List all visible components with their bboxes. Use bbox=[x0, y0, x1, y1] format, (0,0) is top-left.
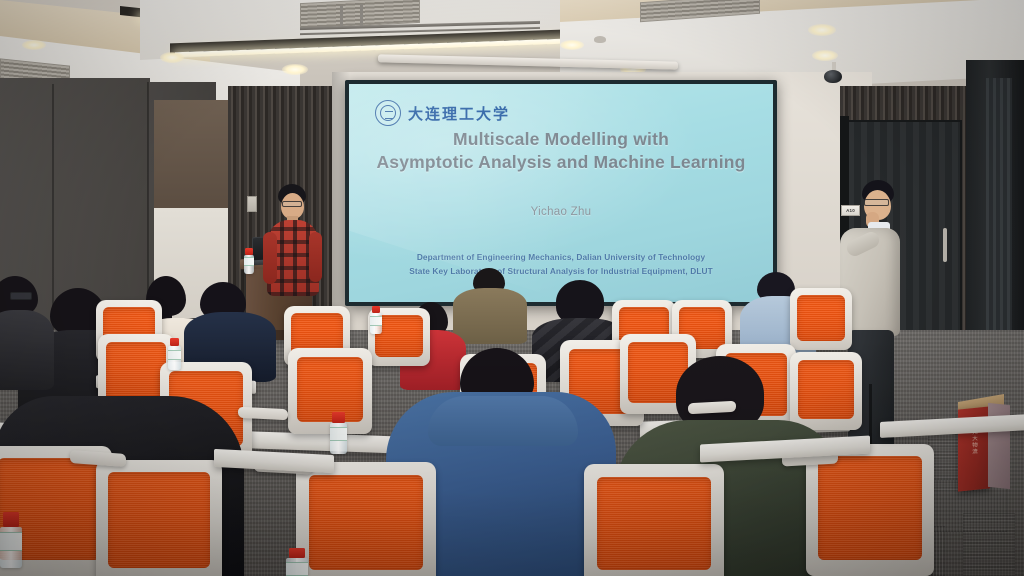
chair-front-center[interactable] bbox=[296, 462, 436, 576]
bottle-label bbox=[286, 562, 308, 576]
downlight-2 bbox=[282, 64, 308, 75]
ceiling-rail-hanger-1 bbox=[340, 6, 343, 26]
bottle-cap bbox=[170, 338, 179, 346]
bottle-label bbox=[168, 350, 181, 361]
water-bottle[interactable] bbox=[0, 512, 22, 568]
bottle-cap bbox=[3, 512, 19, 527]
bottle-cap bbox=[372, 306, 381, 313]
slide-surface: 大连理工大学 Multiscale Modelling with Asympto… bbox=[349, 84, 773, 302]
water-bottle[interactable] bbox=[244, 248, 254, 274]
water-bottle[interactable] bbox=[370, 306, 382, 334]
security-camera-icon bbox=[824, 70, 842, 83]
attendee-hood-bluehoodie bbox=[428, 396, 578, 446]
chair-seatback-mesh bbox=[108, 472, 210, 568]
chair-seatback-mesh bbox=[375, 315, 423, 357]
chair-seatback-mesh bbox=[597, 477, 711, 570]
lecture-hall-photo: A10 大连理工大学 Multiscale Modelling with Asy… bbox=[0, 0, 1024, 576]
chair-seatback-mesh bbox=[798, 360, 854, 419]
standing-attendee-glasses-icon bbox=[864, 199, 889, 206]
downlight-5 bbox=[560, 40, 584, 50]
downlight-4 bbox=[22, 40, 46, 50]
bottle-label bbox=[330, 427, 347, 441]
bottle-label bbox=[0, 532, 22, 551]
chair-seatback-mesh bbox=[309, 475, 423, 570]
chair-back-6[interactable] bbox=[790, 288, 852, 350]
chair-front-center-right[interactable] bbox=[584, 464, 724, 576]
chair-front-center-left[interactable] bbox=[96, 460, 222, 576]
chair-seatback-mesh bbox=[818, 456, 922, 560]
projection-screen: 大连理工大学 Multiscale Modelling with Asympto… bbox=[345, 80, 777, 306]
chair-mid-8[interactable] bbox=[790, 352, 862, 430]
smoke-detector bbox=[594, 36, 606, 43]
bottle-body bbox=[330, 409, 344, 424]
water-bottle[interactable] bbox=[286, 548, 308, 576]
bottle-label bbox=[244, 257, 254, 266]
chair-seatback-mesh bbox=[797, 295, 845, 341]
attendee-body-khaki bbox=[453, 288, 527, 344]
attendee-body-far-left bbox=[0, 310, 54, 390]
wall-speaker-panel bbox=[247, 196, 257, 212]
door-handle bbox=[943, 228, 947, 262]
downlight-1 bbox=[160, 52, 184, 63]
speaker-arm-left bbox=[263, 232, 277, 284]
downlight-7 bbox=[808, 24, 836, 36]
downlight-8 bbox=[812, 50, 838, 61]
bottle-label bbox=[370, 316, 382, 326]
speaker-arm-right bbox=[309, 232, 322, 282]
chair-seatback-mesh bbox=[106, 342, 166, 401]
wall-wood-panel bbox=[154, 100, 230, 210]
ceiling-rail-hanger-2 bbox=[360, 4, 363, 26]
bottle-cap bbox=[245, 248, 252, 255]
carpet-tile bbox=[963, 513, 1015, 576]
attendee-glasses-far-left-icon bbox=[10, 292, 32, 300]
speaker-glasses-icon bbox=[282, 201, 302, 207]
water-bottle[interactable] bbox=[168, 338, 181, 370]
bottle-cap bbox=[332, 404, 342, 409]
bottle-cap bbox=[289, 548, 305, 558]
room-number-sign: A10 bbox=[841, 205, 860, 216]
